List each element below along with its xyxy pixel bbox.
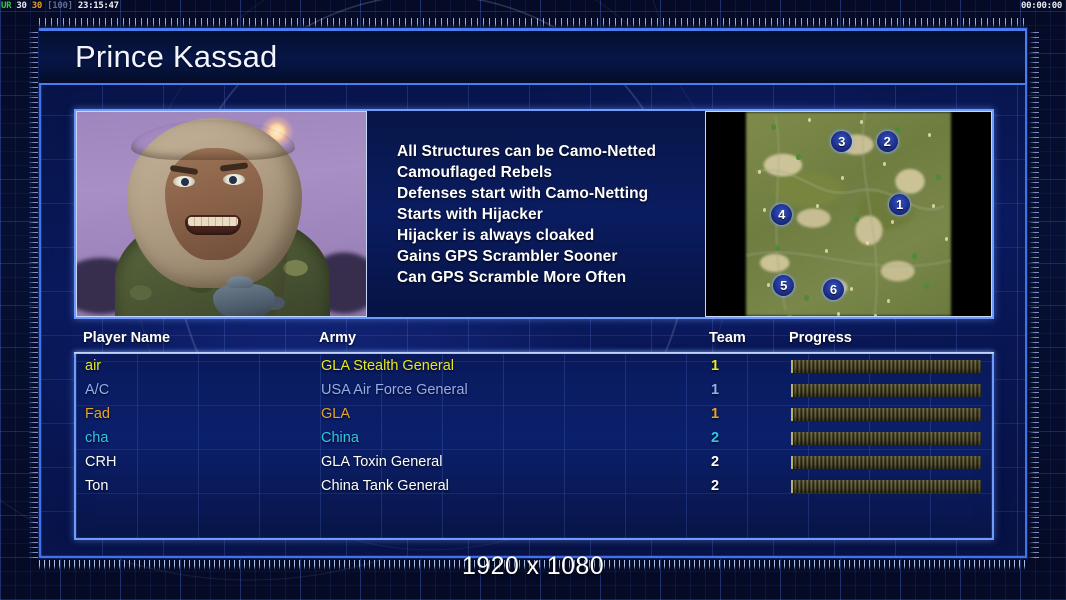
map-tree-icon (804, 295, 809, 301)
cell-team: 1 (711, 406, 791, 422)
progress-bar (791, 480, 981, 493)
cell-army: China (321, 430, 711, 446)
map-start-position-2: 2 (877, 131, 898, 152)
table-row[interactable]: A/CUSA Air Force General1 (76, 378, 992, 402)
page-title: Prince Kassad (39, 39, 277, 75)
teeth (188, 217, 238, 226)
ability-item: Can GPS Scramble More Often (397, 267, 705, 288)
status-left-group: UR 30 30 [100] 23:15:47 (1, 0, 119, 13)
cell-progress (791, 480, 992, 493)
elapsed-timer: 00:00:00 (1021, 0, 1062, 13)
map-resource-icon (767, 283, 770, 287)
cell-progress (791, 384, 992, 397)
teapot (213, 284, 275, 317)
ability-list: All Structures can be Camo-Netted Camouf… (367, 111, 705, 317)
map-resource-icon (850, 287, 853, 291)
column-header-player-name: Player Name (74, 330, 319, 346)
game-lobby-screen: UR 30 30 [100] 23:15:47 00:00:00 Prince … (0, 0, 1066, 600)
cell-army: GLA Stealth General (321, 358, 711, 374)
map-tree-icon (912, 253, 917, 259)
cell-army: GLA (321, 406, 711, 422)
general-portrait (76, 111, 367, 317)
ability-item: Starts with Hijacker (397, 204, 705, 225)
cell-army: USA Air Force General (321, 382, 711, 398)
map-resource-icon (928, 133, 931, 137)
progress-bar-fill (791, 480, 981, 493)
player-rows: airGLA Stealth General1A/CUSA Air Force … (74, 354, 994, 540)
ability-item: Gains GPS Scrambler Sooner (397, 246, 705, 267)
map-resource-icon (763, 208, 766, 212)
progress-bar (791, 432, 981, 445)
column-header-progress: Progress (789, 330, 994, 346)
general-info-panel: All Structures can be Camo-Netted Camouf… (74, 109, 994, 319)
cell-team: 1 (711, 382, 791, 398)
map-resource-icon (825, 249, 828, 253)
resolution-label: 1920 x 1080 (0, 552, 1066, 581)
ability-item: Defenses start with Camo-Netting (397, 183, 705, 204)
table-row[interactable]: chaChina2 (76, 426, 992, 450)
map-tree-icon (775, 245, 780, 251)
ruler-top (39, 18, 1027, 28)
map-start-position-1: 1 (889, 194, 910, 215)
portrait-image (77, 112, 366, 316)
cell-progress (791, 408, 992, 421)
progress-bar (791, 384, 981, 397)
keffiyeh-band (131, 120, 295, 160)
ability-item: All Structures can be Camo-Netted (397, 141, 705, 162)
map-tree-icon (924, 283, 929, 289)
progress-bar (791, 456, 981, 469)
cell-progress (791, 360, 992, 373)
map-resource-icon (887, 299, 890, 303)
cell-player-name: Fad (76, 406, 321, 422)
ruler-right (1029, 28, 1039, 558)
map-tree-icon (854, 216, 859, 222)
face (165, 148, 263, 260)
progress-bar (791, 408, 981, 421)
progress-bar (791, 360, 981, 373)
cell-army: China Tank General (321, 478, 711, 494)
cell-player-name: A/C (76, 382, 321, 398)
map-resource-icon (874, 314, 877, 317)
player-list-panel: Player Name Army Team Progress airGLA St… (74, 330, 994, 540)
title-bar: Prince Kassad (39, 29, 1027, 85)
map-tree-icon (796, 154, 801, 160)
map-resource-icon (866, 241, 869, 245)
progress-bar-fill (791, 432, 981, 445)
pupil-left (181, 178, 189, 186)
status-seg-1: 30 (16, 1, 26, 11)
column-header-army: Army (319, 330, 709, 346)
table-row[interactable]: airGLA Stealth General1 (76, 354, 992, 378)
status-clock: 23:15:47 (78, 1, 119, 11)
cell-player-name: air (76, 358, 321, 374)
cell-player-name: Ton (76, 478, 321, 494)
cell-progress (791, 456, 992, 469)
rows-host: airGLA Stealth General1A/CUSA Air Force … (76, 354, 992, 498)
pupil-right (229, 176, 237, 184)
cell-team: 2 (711, 430, 791, 446)
ability-item: Hijacker is always cloaked (397, 225, 705, 246)
map-resource-icon (891, 220, 894, 224)
progress-bar-fill (791, 360, 981, 373)
map-tree-icon (771, 124, 776, 130)
status-seg-2: 30 (32, 1, 42, 11)
map-preview[interactable]: 123456 (705, 111, 992, 317)
progress-bar-fill (791, 408, 981, 421)
ruler-left (28, 28, 38, 558)
map-resource-icon (945, 237, 948, 241)
teapot-lid (227, 276, 253, 288)
cell-army: GLA Toxin General (321, 454, 711, 470)
table-row[interactable]: CRHGLA Toxin General2 (76, 450, 992, 474)
map-start-position-5: 5 (773, 275, 794, 296)
column-header-team: Team (709, 330, 789, 346)
cell-player-name: cha (76, 430, 321, 446)
main-window: Prince Kassad (39, 28, 1027, 558)
cell-team: 1 (711, 358, 791, 374)
map-start-position-4: 4 (771, 204, 792, 225)
map-tree-icon (895, 127, 900, 133)
progress-bar-fill (791, 384, 981, 397)
status-seg-0: UR (1, 1, 11, 11)
cell-team: 2 (711, 478, 791, 494)
map-start-position-6: 6 (823, 279, 844, 300)
cell-progress (791, 432, 992, 445)
map-resource-icon (837, 312, 840, 316)
map-resource-icon (883, 162, 886, 166)
status-seg-3: [100] (47, 1, 73, 11)
ability-item: Camouflaged Rebels (397, 162, 705, 183)
progress-bar-fill (791, 456, 981, 469)
table-row[interactable]: TonChina Tank General2 (76, 474, 992, 498)
top-status-bar: UR 30 30 [100] 23:15:47 00:00:00 (0, 0, 1066, 13)
table-row[interactable]: FadGLA1 (76, 402, 992, 426)
cell-team: 2 (711, 454, 791, 470)
cell-player-name: CRH (76, 454, 321, 470)
table-header-row: Player Name Army Team Progress (74, 330, 994, 354)
